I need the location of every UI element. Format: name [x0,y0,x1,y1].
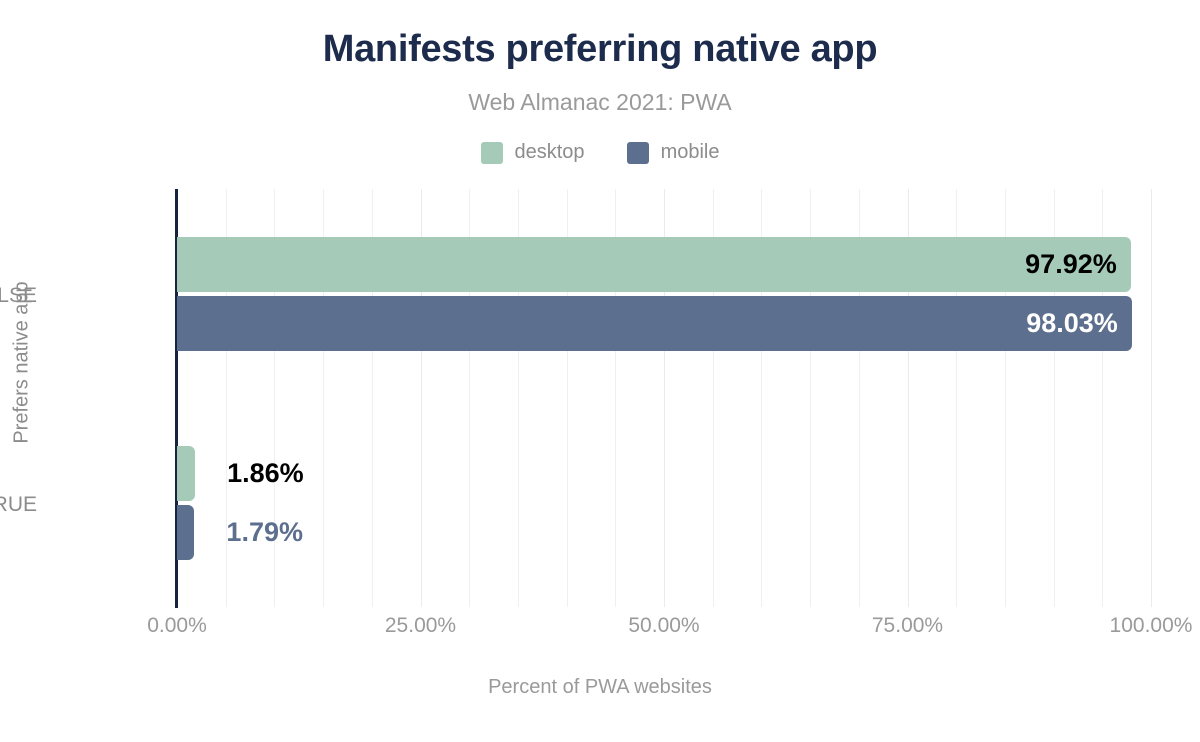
x-axis-title: Percent of PWA websites [0,676,1200,699]
bar-mobile-false[interactable] [177,296,1132,351]
bar-value-desktop-false: 97.92% [1025,251,1117,278]
bar-value-desktop-true: 1.86% [227,460,304,487]
legend-item-mobile[interactable]: mobile [627,141,720,164]
plot-area: 97.92%98.03%1.86%1.79% [177,189,1151,607]
chart-legend: desktop mobile [0,141,1200,164]
x-tick-1: 25.00% [385,614,456,638]
bar-value-mobile-true: 1.79% [226,519,303,546]
legend-item-desktop[interactable]: desktop [481,141,585,164]
legend-label-mobile: mobile [661,141,720,164]
legend-label-desktop: desktop [515,141,585,164]
gridline [1151,189,1152,607]
legend-swatch-desktop [481,142,503,164]
y-tick-true: TRUE [0,493,37,517]
legend-swatch-mobile [627,142,649,164]
bar-value-mobile-false: 98.03% [1026,310,1118,337]
chart-container: Manifests preferring native app Web Alma… [0,0,1200,742]
bar-mobile-true[interactable] [177,505,194,560]
x-tick-3: 75.00% [872,614,943,638]
y-axis-title: Prefers native app [11,233,34,493]
bar-desktop-true[interactable] [177,446,195,501]
bar-desktop-false[interactable] [177,237,1131,292]
x-tick-4: 100.00% [1110,614,1193,638]
chart-title: Manifests preferring native app [0,28,1200,71]
chart-subtitle: Web Almanac 2021: PWA [0,89,1200,116]
bars-layer: 97.92%98.03%1.86%1.79% [177,189,1151,607]
x-tick-2: 50.00% [628,614,699,638]
x-tick-0: 0.00% [147,614,207,638]
